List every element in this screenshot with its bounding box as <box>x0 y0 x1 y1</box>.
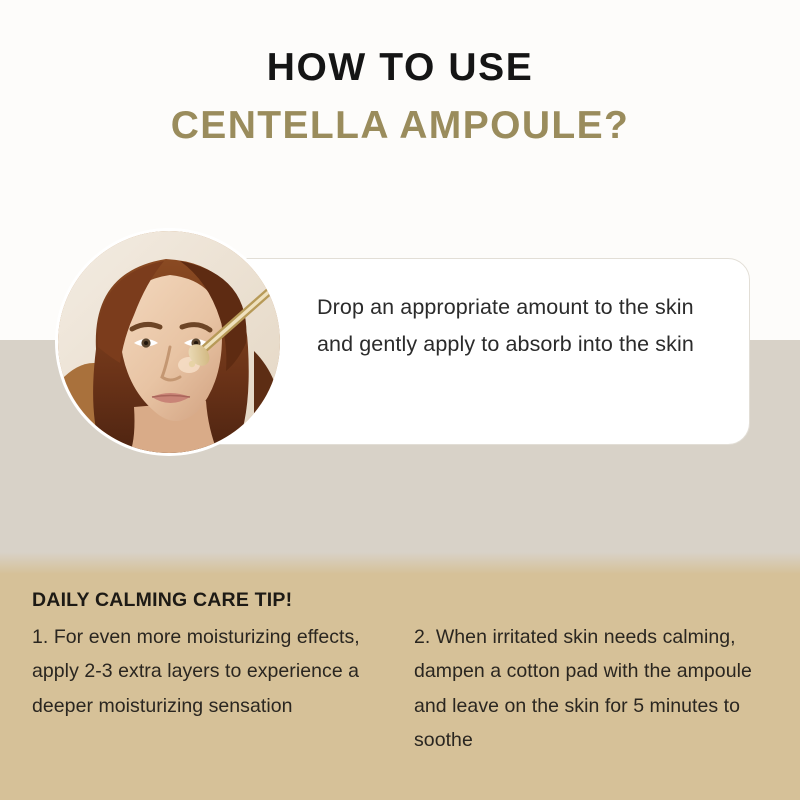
model-photo-image <box>58 231 280 453</box>
tip-item-1: 1. For even more moisturizing effects, a… <box>32 620 380 757</box>
page-title-line1: HOW TO USE <box>0 46 800 91</box>
tip-item-2: 2. When irritated skin needs calming, da… <box>414 620 772 757</box>
page-title: HOW TO USE CENTELLA AMPOULE? <box>0 46 800 149</box>
page-title-line2: CENTELLA AMPOULE? <box>0 104 800 149</box>
how-to-use-infographic: HOW TO USE CENTELLA AMPOULE? Drop an app… <box>0 0 800 800</box>
tip-heading: DAILY CALMING CARE TIP! <box>32 589 292 612</box>
background-band-fade <box>0 552 800 574</box>
instruction-card-text: Drop an appropriate amount to the skin a… <box>317 289 729 363</box>
tip-columns: 1. For even more moisturizing effects, a… <box>32 620 772 757</box>
model-photo-circle <box>58 231 280 453</box>
